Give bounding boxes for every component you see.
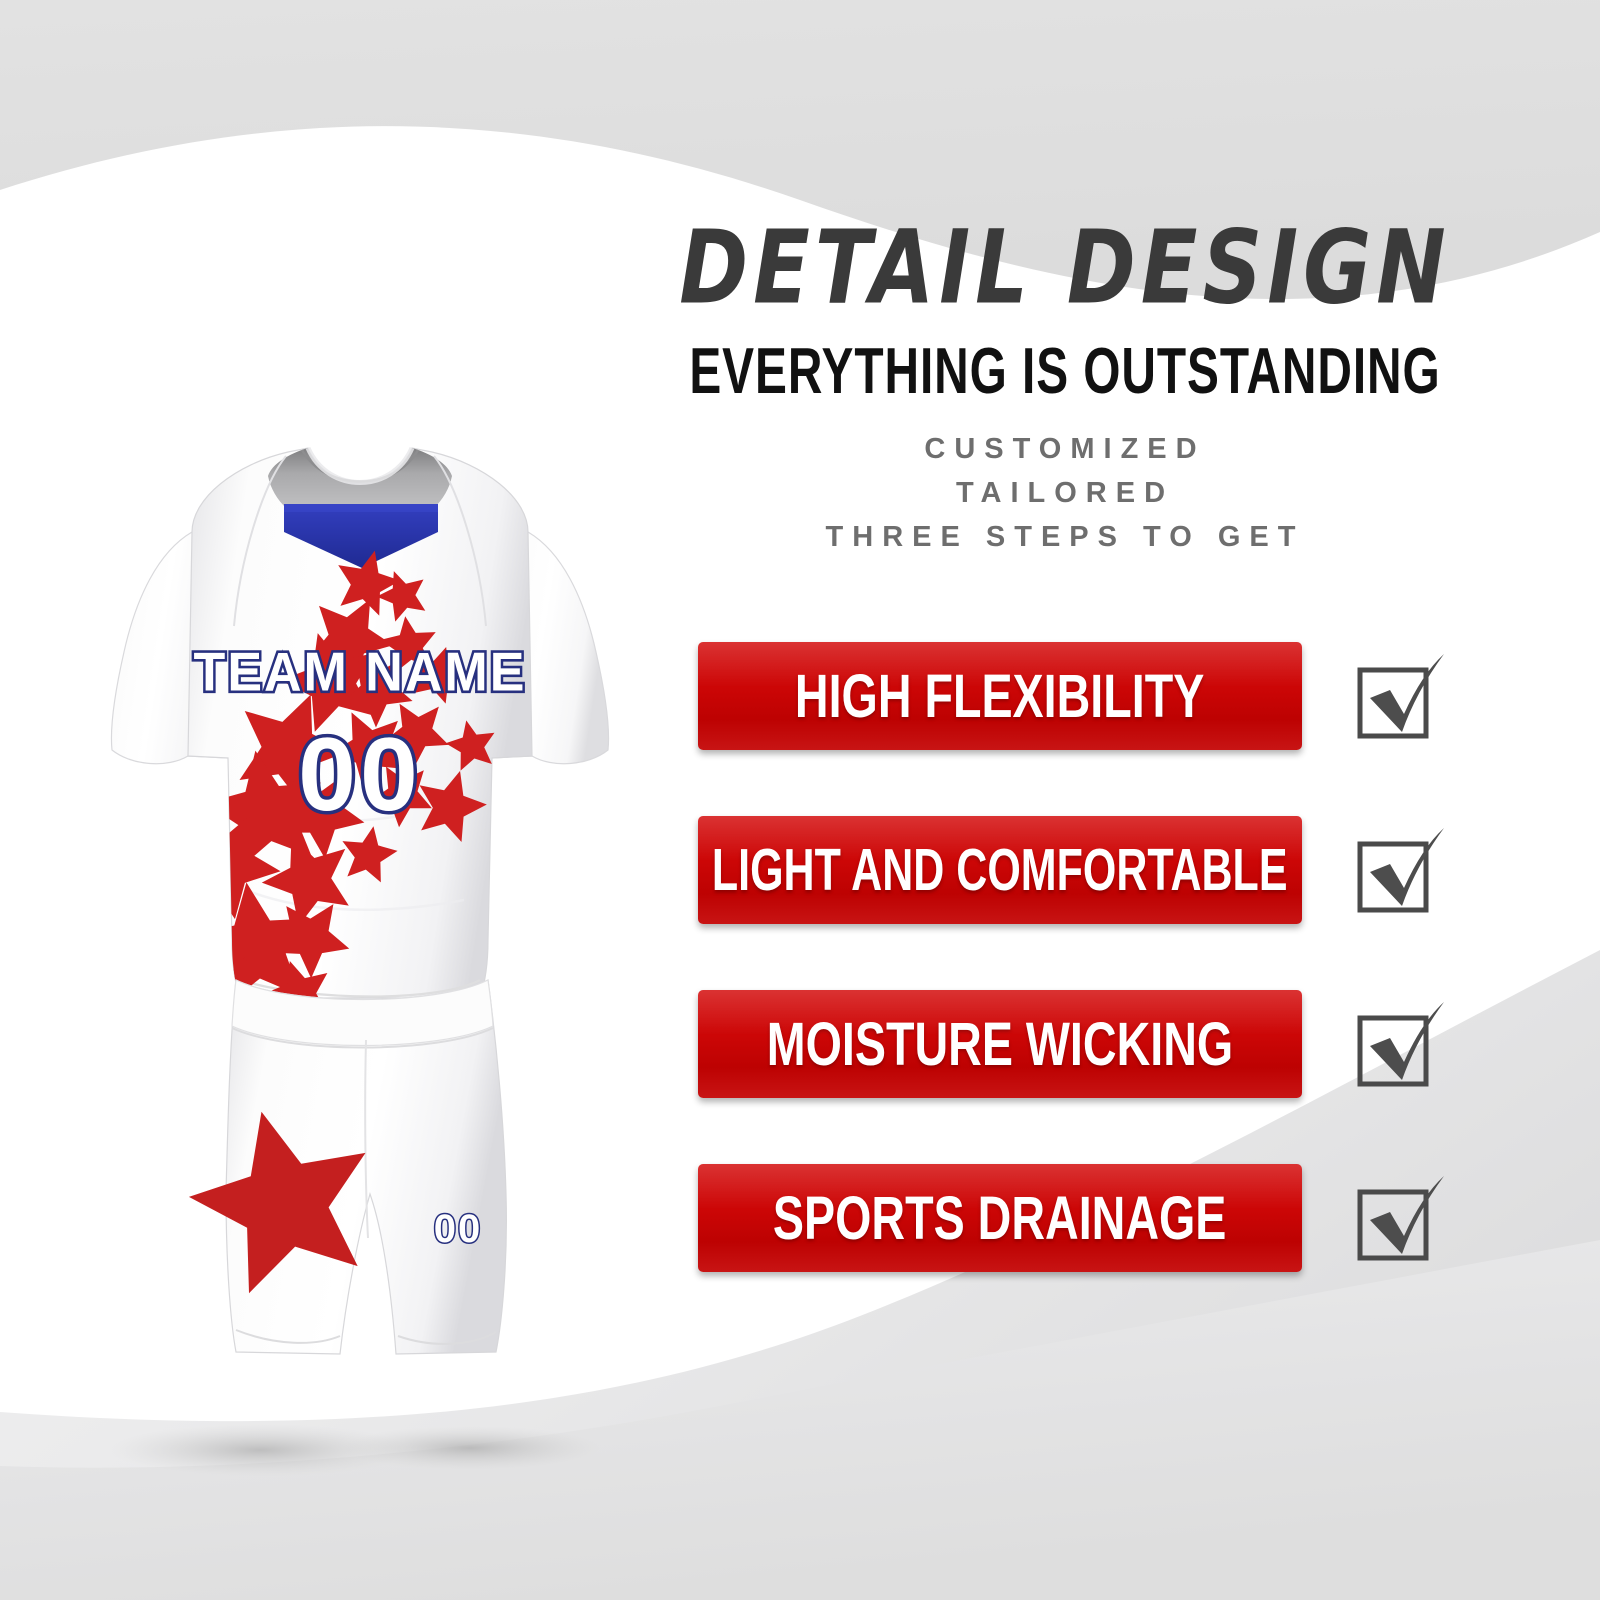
- product-image: TEAM NAME 00 00: [40, 420, 660, 1420]
- header-block: DETAIL DESIGN EVERYTHING IS OUTSTANDING …: [560, 210, 1570, 559]
- feature-label: MOISTURE WICKING: [767, 1013, 1233, 1074]
- uniform-illustration: TEAM NAME 00 00: [40, 420, 660, 1420]
- feature-label: SPORTS DRAINAGE: [773, 1187, 1226, 1248]
- tagline-item: THREE STEPS TO GET: [560, 515, 1570, 559]
- checkbox-check-icon: [1344, 992, 1448, 1096]
- poster-canvas: TEAM NAME 00 00: [0, 0, 1600, 1600]
- feature-label: LIGHT AND COMFORTABLE: [712, 841, 1288, 900]
- feature-row: LIGHT AND COMFORTABLE: [698, 814, 1468, 926]
- feature-bar-sports-drainage[interactable]: SPORTS DRAINAGE: [698, 1164, 1302, 1272]
- feature-row: SPORTS DRAINAGE: [698, 1162, 1468, 1274]
- tagline-item: CUSTOMIZED: [560, 427, 1570, 471]
- checkbox-check-icon: [1344, 1166, 1448, 1270]
- feature-label: HIGH FLEXIBILITY: [795, 665, 1204, 726]
- shorts: 00: [173, 980, 506, 1354]
- tagline-item: TAILORED: [560, 471, 1570, 515]
- page-title: DETAIL DESIGN: [560, 210, 1570, 319]
- jersey-number: 00: [298, 717, 422, 833]
- jersey-team-name: TEAM NAME: [194, 641, 527, 703]
- feature-list: HIGH FLEXIBILITY LIGHT AND COMFORTABLE: [698, 640, 1468, 1336]
- feature-row: HIGH FLEXIBILITY: [698, 640, 1468, 752]
- feature-bar-moisture-wicking[interactable]: MOISTURE WICKING: [698, 990, 1302, 1098]
- feature-bar-high-flexibility[interactable]: HIGH FLEXIBILITY: [698, 642, 1302, 750]
- feature-row: MOISTURE WICKING: [698, 988, 1468, 1100]
- jersey: TEAM NAME 00: [112, 448, 609, 1067]
- page-subtitle: EVERYTHING IS OUTSTANDING: [600, 339, 1529, 404]
- shorts-number: 00: [434, 1207, 483, 1251]
- checkbox-check-icon: [1344, 818, 1448, 922]
- feature-bar-light-and-comfortable[interactable]: LIGHT AND COMFORTABLE: [698, 816, 1302, 924]
- checkbox-check-icon: [1344, 644, 1448, 748]
- tagline-list: CUSTOMIZED TAILORED THREE STEPS TO GET: [560, 427, 1570, 559]
